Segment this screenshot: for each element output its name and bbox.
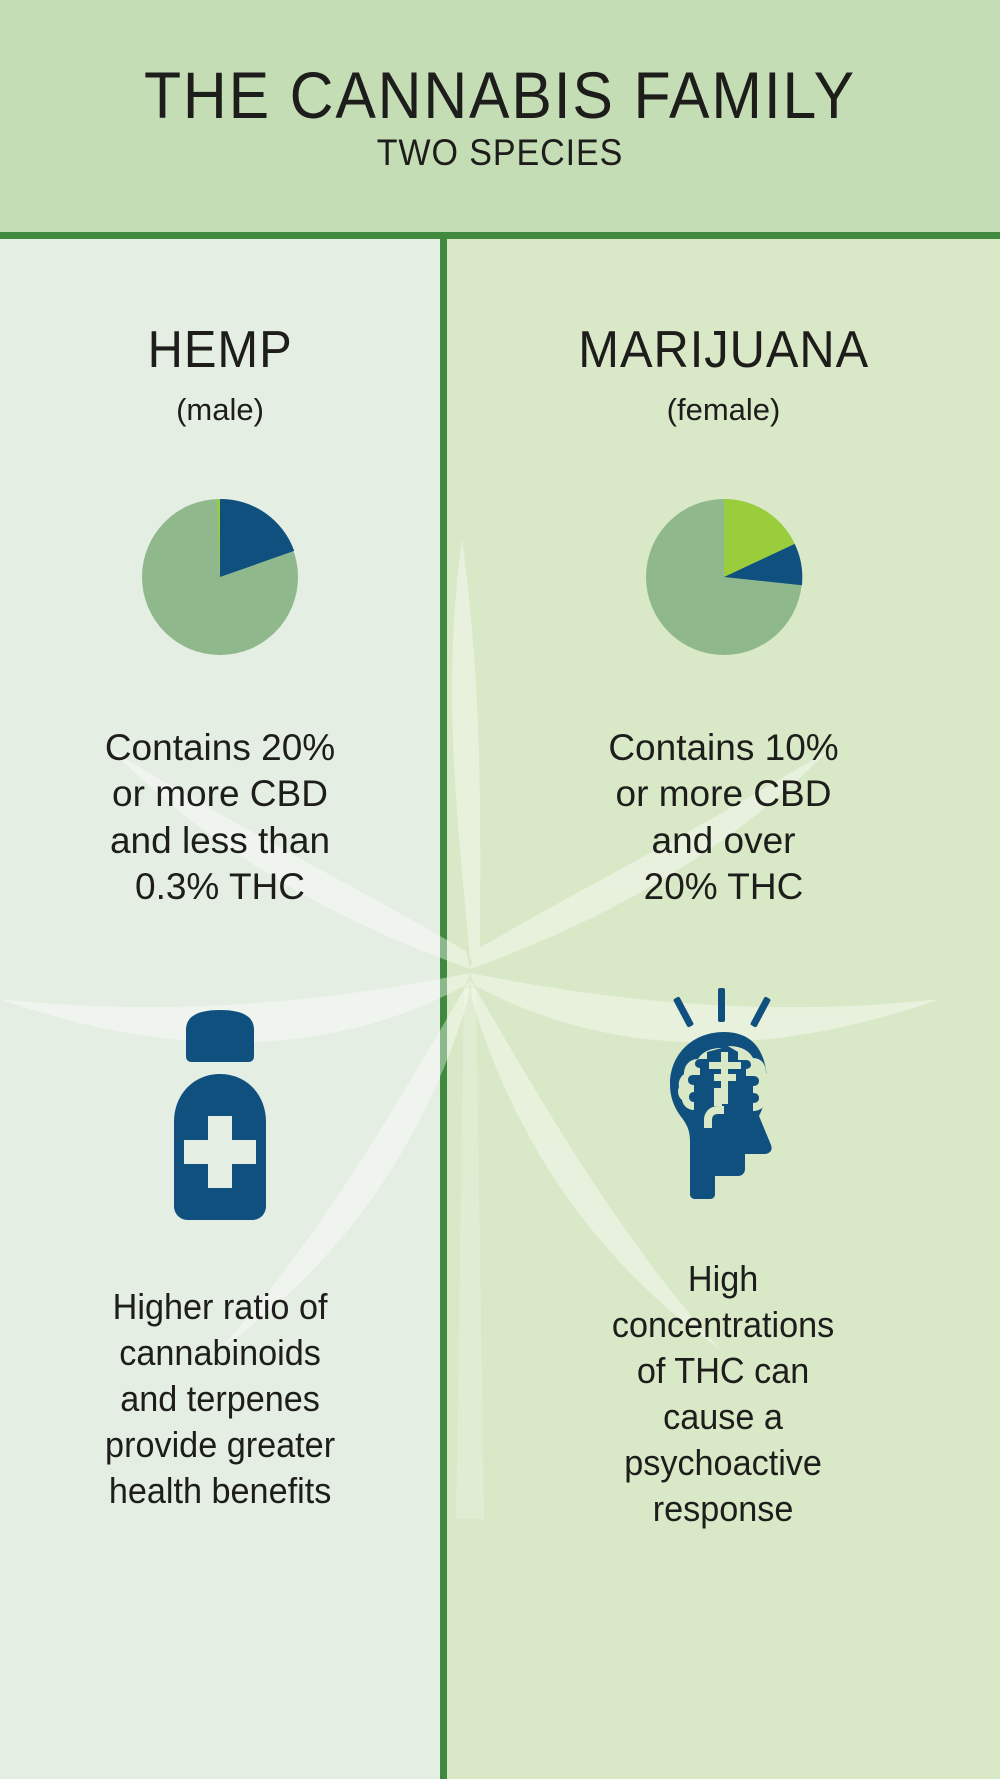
hemp-species-name: HEMP (148, 324, 293, 376)
page-title: THE CANNABIS FAMILY (144, 62, 856, 128)
medicine-bottle-icon (164, 1010, 276, 1222)
marijuana-benefit-icon (652, 988, 796, 1200)
marijuana-column: MARIJUANA (female) Contains 10% or more … (447, 239, 1000, 1779)
marijuana-species-name: MARIJUANA (578, 324, 869, 376)
hemp-species-sex: (male) (176, 394, 264, 425)
marijuana-benefit-text: High concentrations of THC can cause a p… (612, 1256, 834, 1532)
hemp-benefit-icon (164, 1010, 276, 1222)
hemp-benefit-text: Higher ratio of cannabinoids and terpene… (105, 1284, 335, 1514)
marijuana-pie-chart (644, 497, 804, 657)
hemp-pie-chart (140, 497, 300, 657)
hemp-column: HEMP (male) Contains 20% or more CBD and… (0, 239, 440, 1779)
hemp-composition-text: Contains 20% or more CBD and less than 0… (105, 725, 335, 910)
marijuana-species-sex: (female) (667, 394, 781, 425)
infographic-page: THE CANNABIS FAMILY TWO SPECIES (0, 0, 1000, 1779)
head-brain-icon (652, 988, 796, 1200)
column-divider (440, 239, 447, 1779)
header-divider-rule (0, 232, 1000, 239)
pie-chart-hemp-icon (140, 497, 300, 657)
page-subtitle: TWO SPECIES (377, 134, 624, 171)
pie-chart-marijuana-icon (644, 497, 804, 657)
header-banner: THE CANNABIS FAMILY TWO SPECIES (0, 0, 1000, 232)
marijuana-composition-text: Contains 10% or more CBD and over 20% TH… (608, 725, 838, 910)
